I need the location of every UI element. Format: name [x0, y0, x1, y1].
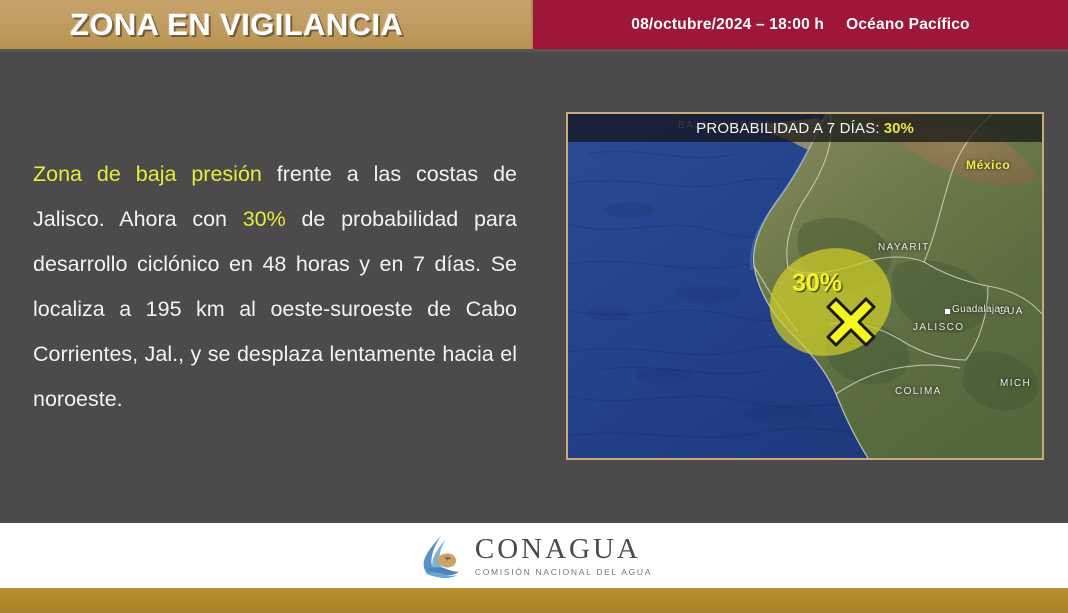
map-label-guadalajara: Guadalajara	[952, 304, 1010, 315]
forecast-description: Zona de baja presión frente a las costas…	[33, 152, 517, 422]
city-dot-guadalajara	[944, 308, 951, 315]
map-label-colima: COLIMA	[895, 386, 942, 397]
probability-banner-value: 30%	[884, 120, 914, 137]
map-label-nayarit: NAYARIT	[878, 242, 930, 253]
footer-accent-bar	[0, 588, 1068, 613]
x-marker-icon	[826, 297, 876, 347]
conagua-droplet-icon	[416, 533, 462, 579]
conagua-wordmark: CONAGUA COMISIÓN NACIONAL DEL AGUA	[475, 535, 652, 577]
satellite-map[interactable]: BAJA CALIFORNIA SUR México NAYARIT JALIS…	[566, 112, 1044, 460]
disturbance-probability-label: 30%	[792, 269, 842, 298]
bulletin-slide: ZONA EN VIGILANCIA 08/octubre/2024 – 18:…	[0, 0, 1068, 613]
map-label-mexico: México	[966, 158, 1010, 172]
conagua-subtitle: COMISIÓN NACIONAL DEL AGUA	[475, 567, 652, 577]
map-label-michoacan: MICH	[1000, 378, 1031, 389]
probability-value-inline: 30%	[243, 207, 286, 231]
header-title-panel: ZONA EN VIGILANCIA	[0, 0, 533, 49]
probability-banner-label: PROBABILIDAD A 7 DÍAS:	[696, 120, 880, 137]
header-divider	[0, 49, 1068, 52]
page-title: ZONA EN VIGILANCIA	[70, 7, 403, 43]
map-label-jalisco: JALISCO	[913, 322, 964, 333]
header-bar: ZONA EN VIGILANCIA 08/octubre/2024 – 18:…	[0, 0, 1068, 49]
probability-banner: PROBABILIDAD A 7 DÍAS: 30%	[568, 114, 1042, 142]
description-part-4: de probabilidad para desarrollo ciclónic…	[33, 207, 517, 411]
phenomenon-name: Zona de baja presión	[33, 162, 262, 186]
conagua-logo: CONAGUA COMISIÓN NACIONAL DEL AGUA	[416, 533, 652, 579]
header-meta-panel: 08/octubre/2024 – 18:00 h Océano Pacífic…	[533, 0, 1068, 49]
ocean-basin-label: Océano Pacífico	[846, 16, 970, 34]
bulletin-datetime: 08/octubre/2024 – 18:00 h	[631, 16, 824, 34]
footer: CONAGUA COMISIÓN NACIONAL DEL AGUA	[0, 523, 1068, 588]
conagua-name: CONAGUA	[475, 535, 652, 564]
